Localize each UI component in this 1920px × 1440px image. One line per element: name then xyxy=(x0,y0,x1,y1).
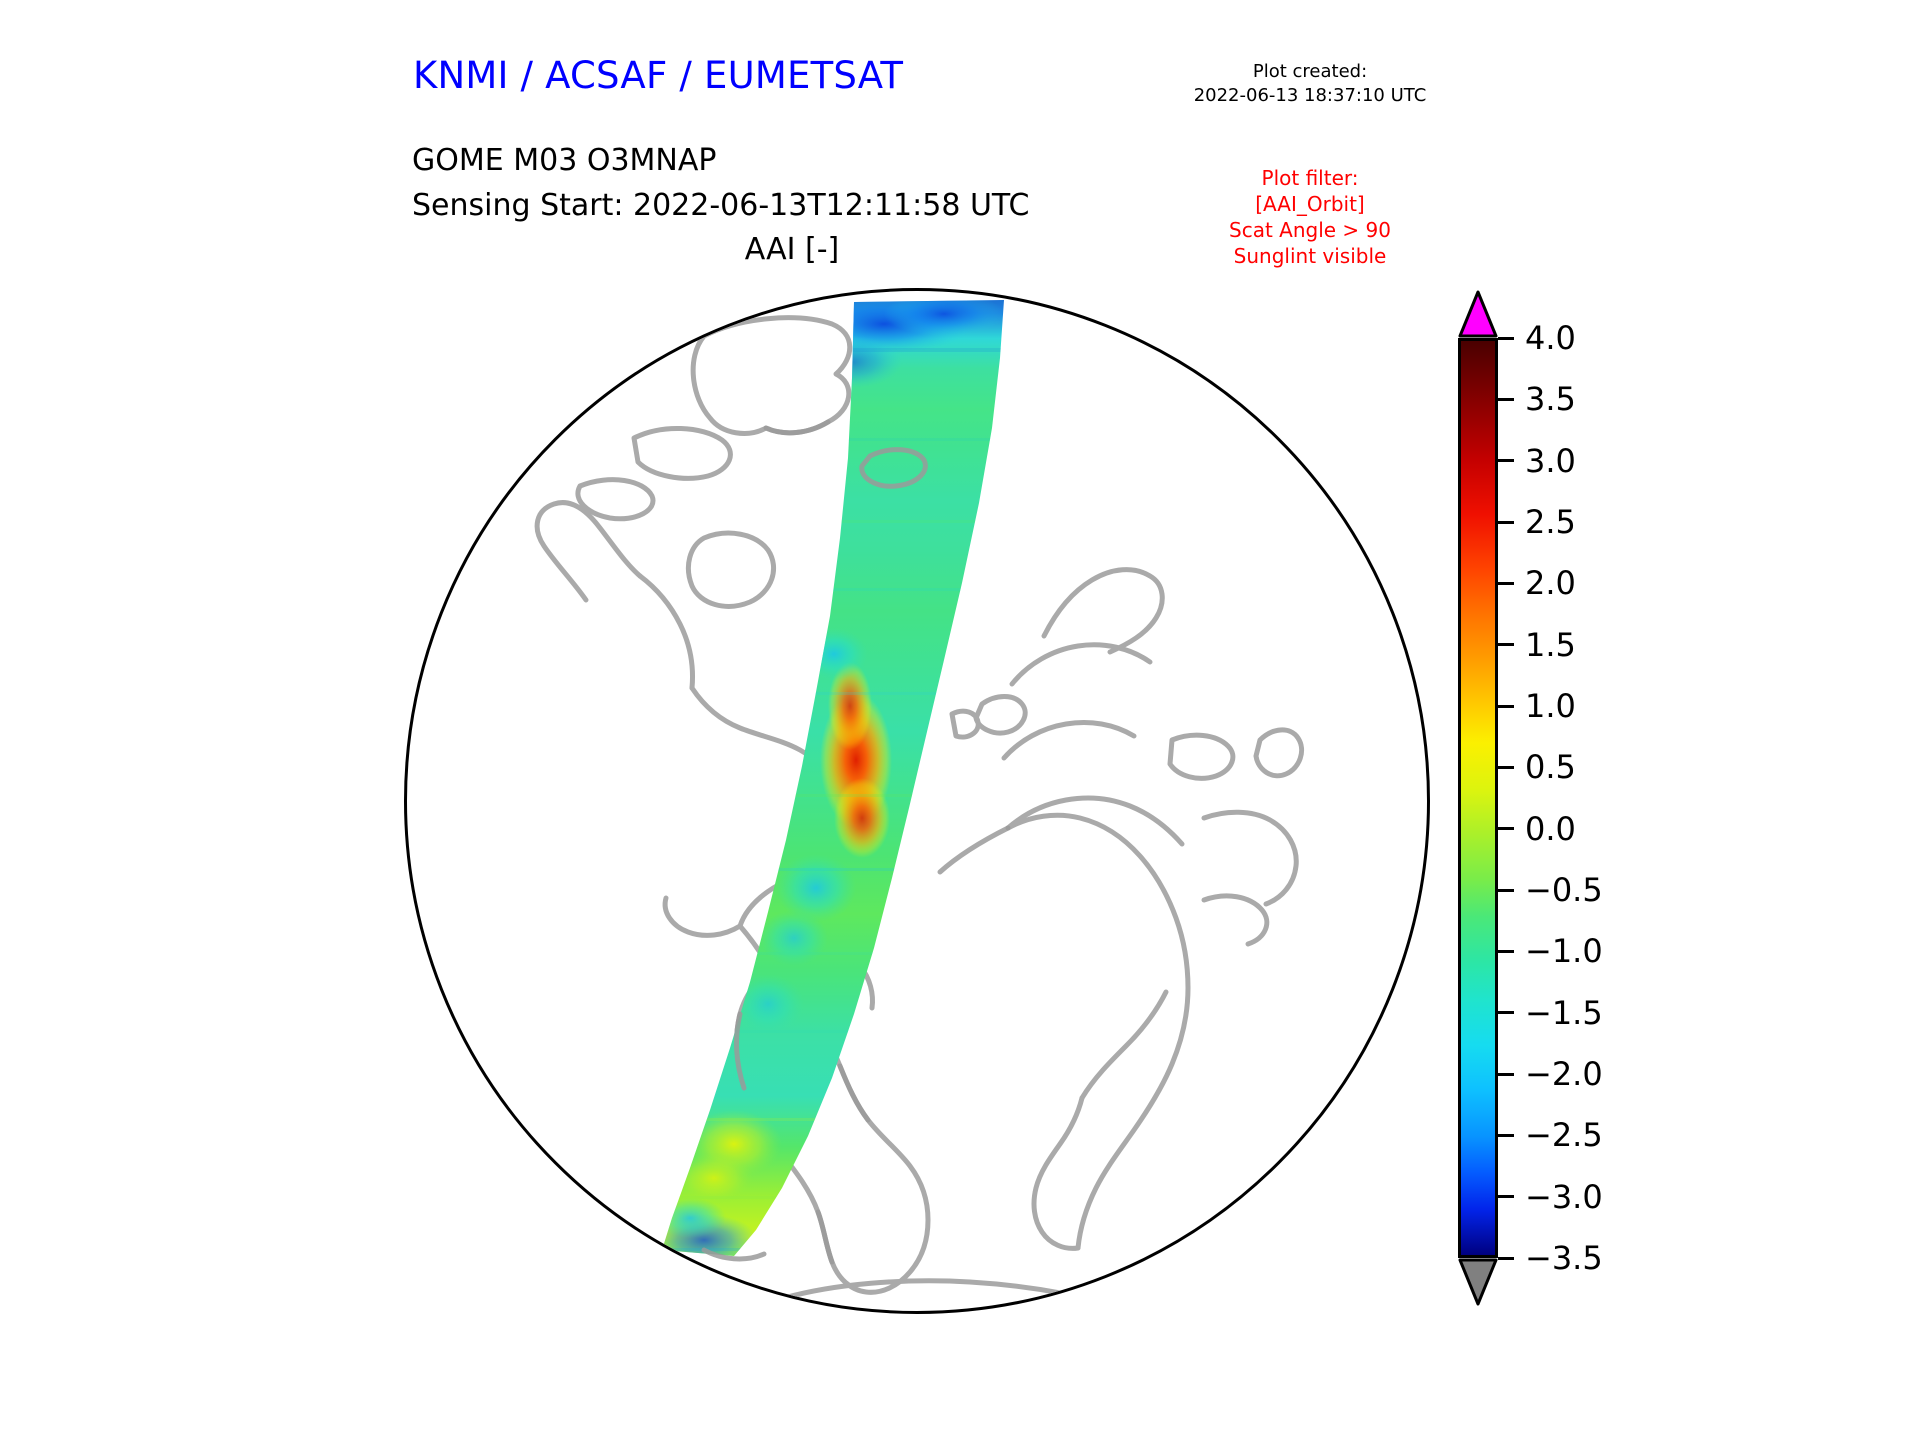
plot-filter-heading: Plot filter: xyxy=(1155,165,1465,191)
colorbar-tick-label: 3.0 xyxy=(1525,442,1576,480)
colorbar-tick-mark xyxy=(1498,337,1514,340)
colorbar-tick-mark xyxy=(1498,1011,1514,1014)
colorbar-tick-mark xyxy=(1498,1195,1514,1198)
colorbar-tick-label: 0.0 xyxy=(1525,810,1576,848)
colorbar-tick-label: 2.0 xyxy=(1525,564,1576,602)
colorbar-tick-mark xyxy=(1498,827,1514,830)
colorbar-tick-label: 0.5 xyxy=(1525,748,1576,786)
plot-filter-line-1: [AAI_Orbit] xyxy=(1155,191,1465,217)
plot-created-label: Plot created: xyxy=(1160,60,1460,84)
plot-created-timestamp: 2022-06-13 18:37:10 UTC xyxy=(1160,84,1460,108)
colorbar-tick-mark xyxy=(1498,766,1514,769)
globe-content xyxy=(404,288,1430,1314)
colorbar-tick-label: −2.5 xyxy=(1525,1116,1603,1154)
colorbar-tick-mark xyxy=(1498,459,1514,462)
colorbar-tick-mark xyxy=(1498,398,1514,401)
colorbar-tick-label: −1.0 xyxy=(1525,932,1603,970)
colorbar-tick-mark xyxy=(1498,889,1514,892)
colorbar-tick-label: −3.5 xyxy=(1525,1239,1603,1277)
colorbar-tick-mark xyxy=(1498,1134,1514,1137)
plot-filter-line-2: Scat Angle > 90 xyxy=(1155,217,1465,243)
colorbar-under-arrow xyxy=(1458,1258,1498,1306)
colorbar-tick-mark xyxy=(1498,521,1514,524)
colorbar-gradient xyxy=(1458,338,1498,1258)
colorbar-tick-label: −3.0 xyxy=(1525,1178,1603,1216)
colorbar-tick-mark xyxy=(1498,582,1514,585)
colorbar-tick-mark xyxy=(1498,950,1514,953)
colorbar-tick-label: 1.0 xyxy=(1525,687,1576,725)
sensing-start-label: Sensing Start: 2022-06-13T12:11:58 UTC xyxy=(412,188,1029,223)
quantity-label: AAI [-] xyxy=(412,232,1172,267)
colorbar-over-arrow xyxy=(1458,290,1498,338)
colorbar-tick-label: −0.5 xyxy=(1525,871,1603,909)
product-title: GOME M03 O3MNAP xyxy=(412,143,716,178)
colorbar-tick-label: −1.5 xyxy=(1525,994,1603,1032)
colorbar-tick-mark xyxy=(1498,705,1514,708)
colorbar-tick-label: 2.5 xyxy=(1525,503,1576,541)
colorbar-tick-label: 1.5 xyxy=(1525,626,1576,664)
organisation-title: KNMI / ACSAF / EUMETSAT xyxy=(413,54,903,97)
colorbar: 4.03.53.02.52.01.51.00.50.0−0.5−1.0−1.5−… xyxy=(1443,288,1863,1318)
satellite-swath xyxy=(650,288,1014,1298)
colorbar-tick-mark xyxy=(1498,643,1514,646)
colorbar-tick-label: 4.0 xyxy=(1525,319,1576,357)
colorbar-tick-label: 3.5 xyxy=(1525,380,1576,418)
colorbar-tick-label: −2.0 xyxy=(1525,1055,1603,1093)
plot-filter-block: Plot filter: [AAI_Orbit] Scat Angle > 90… xyxy=(1155,165,1465,269)
colorbar-tick-mark xyxy=(1498,1073,1514,1076)
globe-map xyxy=(404,288,1430,1314)
plot-filter-line-3: Sunglint visible xyxy=(1155,243,1465,269)
colorbar-tick-mark xyxy=(1498,1257,1514,1260)
plot-created-block: Plot created: 2022-06-13 18:37:10 UTC xyxy=(1160,60,1460,108)
